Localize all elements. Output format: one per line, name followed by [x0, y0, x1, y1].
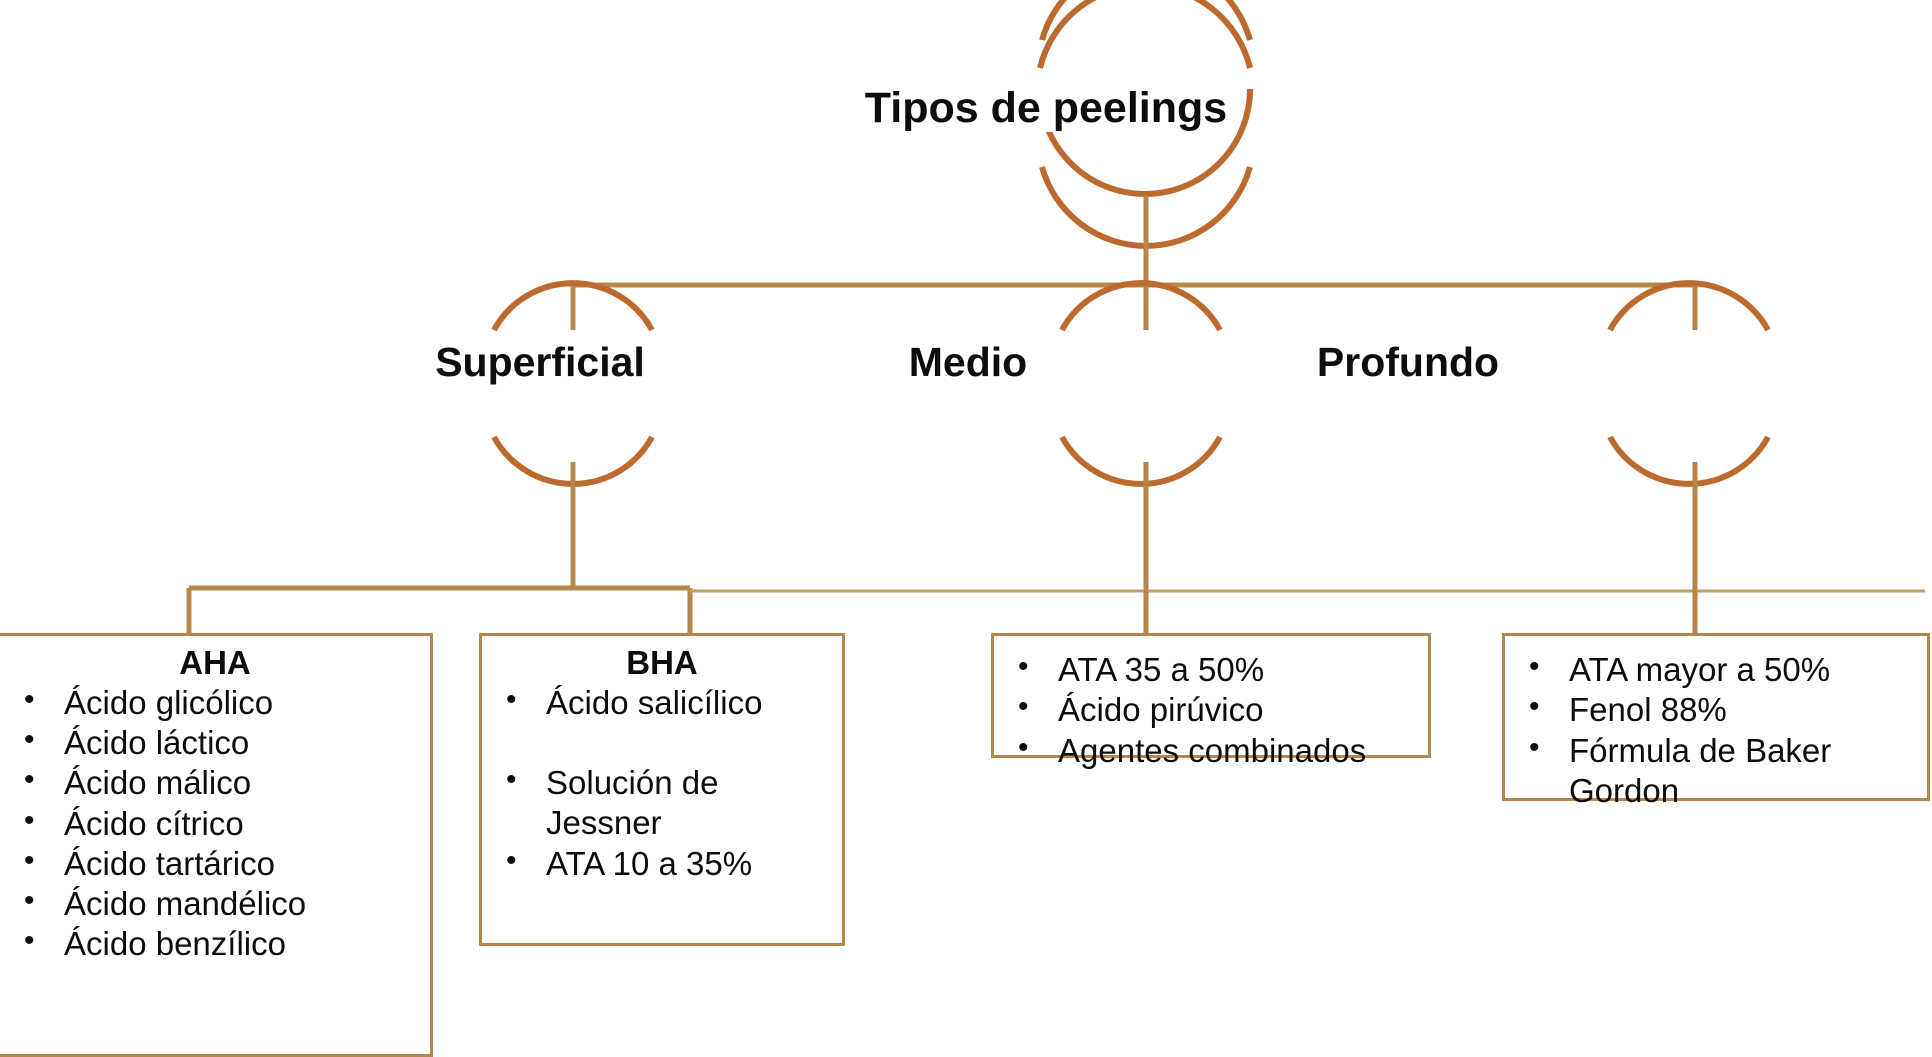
box-bha[interactable]: BHA Ácido salicílico Solución de Jessner…	[479, 633, 845, 946]
list-item: Ácido mandélico	[10, 884, 420, 924]
box-medio-list: ATA 35 a 50% Ácido pirúvico Agentes comb…	[1004, 650, 1418, 771]
list-item: Ácido cítrico	[10, 804, 420, 844]
node-superficial-label: Superficial	[425, 341, 655, 384]
list-item: Ácido salicílico	[492, 683, 832, 723]
list-item-continuation: Gordon	[1515, 771, 1917, 811]
list-item: Ácido benzílico	[10, 924, 420, 964]
list-item: Agentes combinados	[1004, 731, 1418, 771]
node-medio-label: Medio	[899, 341, 1037, 384]
node-root[interactable]: Tipos de peelings	[826, 0, 1266, 254]
list-item: Ácido pirúvico	[1004, 690, 1418, 730]
node-profundo[interactable]: Profundo	[1248, 248, 1568, 478]
box-profundo-list: ATA mayor a 50% Fenol 88% Fórmula de Bak…	[1515, 650, 1917, 811]
list-item: ATA 10 a 35%	[492, 844, 832, 884]
list-item: Ácido málico	[10, 763, 420, 803]
box-medio[interactable]: ATA 35 a 50% Ácido pirúvico Agentes comb…	[991, 633, 1431, 758]
box-aha-list: Ácido glicólico Ácido láctico Ácido máli…	[10, 683, 420, 965]
node-medio[interactable]: Medio	[808, 248, 1128, 478]
list-item: ATA mayor a 50%	[1515, 650, 1917, 690]
list-item: ATA 35 a 50%	[1004, 650, 1418, 690]
list-spacer	[492, 723, 832, 763]
node-root-label: Tipos de peelings	[855, 86, 1237, 131]
box-bha-title: BHA	[492, 644, 832, 683]
node-profundo-label: Profundo	[1307, 341, 1509, 384]
list-item: Solución de	[492, 763, 832, 803]
list-item: Ácido láctico	[10, 723, 420, 763]
node-superficial[interactable]: Superficial	[380, 248, 700, 478]
list-item-continuation: Jessner	[492, 803, 832, 843]
box-aha-title: AHA	[10, 644, 420, 683]
list-item: Fórmula de Baker	[1515, 731, 1917, 771]
diagram-canvas: Tipos de peelings Superficial Medio Prof…	[0, 0, 1932, 1053]
list-item: Ácido tartárico	[10, 844, 420, 884]
box-bha-list: Ácido salicílico Solución de Jessner ATA…	[492, 683, 832, 884]
list-item: Ácido glicólico	[10, 683, 420, 723]
list-item: Fenol 88%	[1515, 690, 1917, 730]
box-profundo[interactable]: ATA mayor a 50% Fenol 88% Fórmula de Bak…	[1502, 633, 1930, 801]
box-aha[interactable]: AHA Ácido glicólico Ácido láctico Ácido …	[0, 633, 433, 1057]
